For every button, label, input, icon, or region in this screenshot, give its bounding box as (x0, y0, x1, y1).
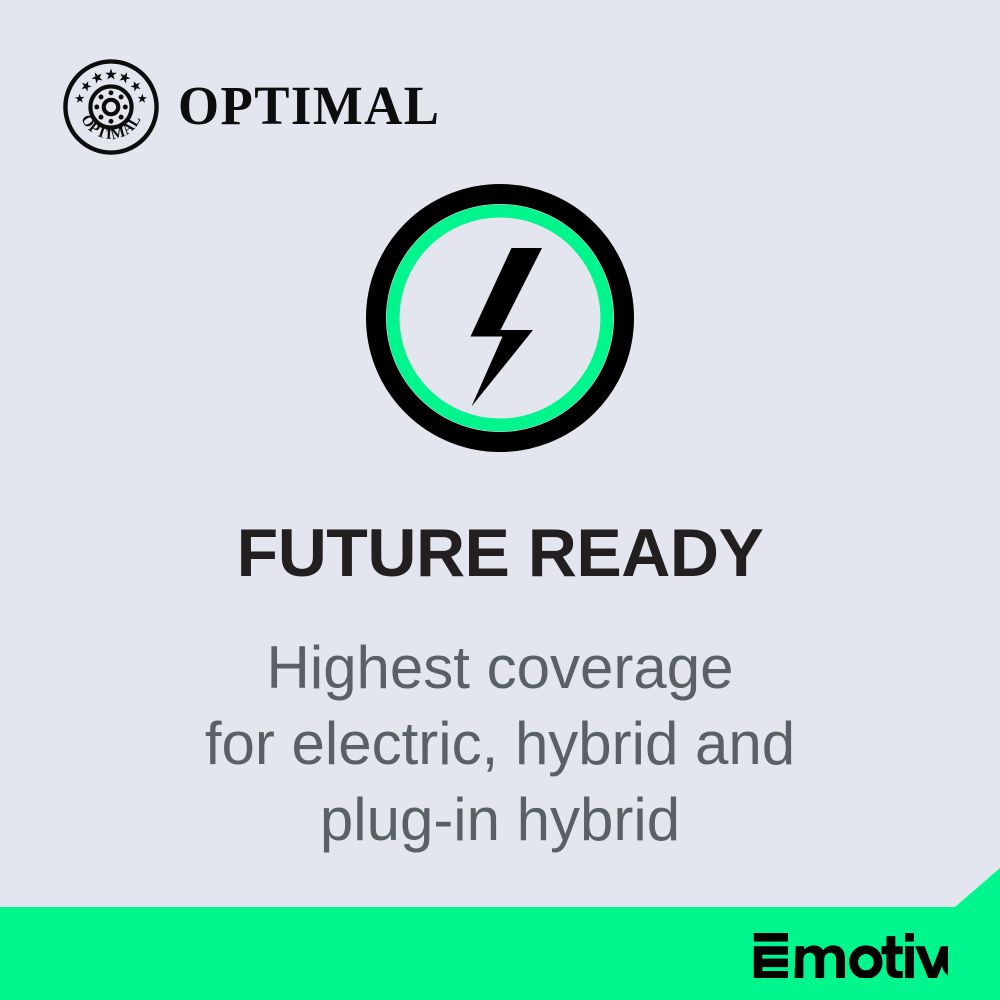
emotive-logo: Emotive (752, 932, 948, 978)
poster-canvas: OPTIMAL OPTIMAL FUTURE READY Highest cov… (0, 0, 1000, 1000)
optimal-emblem-icon: OPTIMAL (62, 58, 160, 156)
subtitle-line-3: plug-in hybrid (0, 782, 1000, 858)
optimal-wordmark: OPTIMAL (178, 78, 440, 137)
emblem-curved-text: OPTIMAL (77, 112, 144, 144)
subtitle-line-2: for electric, hybrid and (0, 706, 1000, 782)
footer-bar: Emotive (0, 862, 1000, 1000)
subtitle-line-1: Highest coverage (0, 630, 1000, 706)
brand-header: OPTIMAL OPTIMAL (62, 58, 451, 156)
lightning-bolt-in-circle-icon (366, 184, 634, 452)
subtitle-block: Highest coverage for electric, hybrid an… (0, 630, 1000, 858)
svg-text:OPTIMAL: OPTIMAL (77, 112, 144, 144)
bolt-shape (471, 248, 543, 407)
page-title: FUTURE READY (0, 519, 1000, 587)
